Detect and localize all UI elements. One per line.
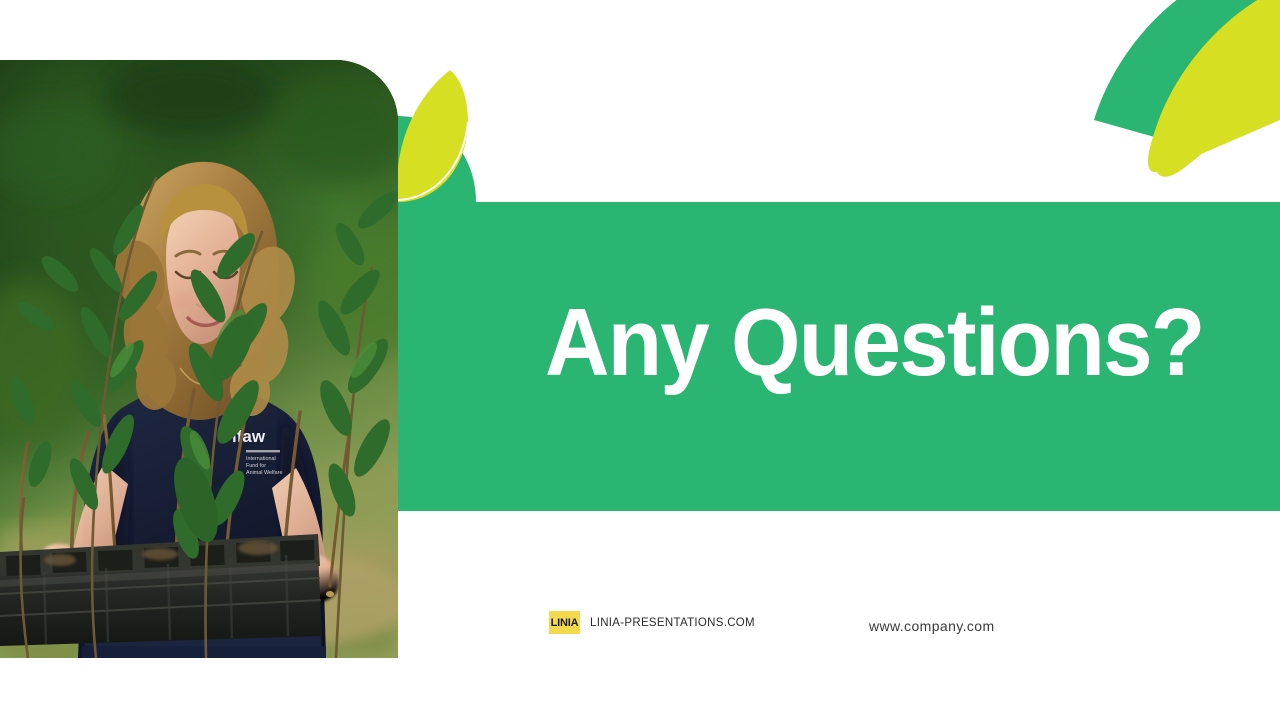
linia-logo-mark: LINIA bbox=[549, 611, 580, 634]
company-url-label[interactable]: www.company.com bbox=[869, 618, 995, 634]
svg-text:International: International bbox=[246, 456, 276, 462]
footer-brand[interactable]: LINIA LINIA-PRESENTATIONS.COM bbox=[549, 611, 755, 634]
decoration-top-right bbox=[1080, 0, 1280, 200]
decoration-band-left bbox=[398, 60, 518, 205]
linia-url-label[interactable]: LINIA-PRESENTATIONS.COM bbox=[590, 617, 755, 629]
hero-photo: ifaw International Fund for Animal Welfa… bbox=[0, 60, 398, 658]
page-title: Any Questions? bbox=[545, 291, 1140, 395]
svg-text:Animal Welfare: Animal Welfare bbox=[246, 470, 282, 476]
svg-text:Fund for: Fund for bbox=[246, 463, 266, 469]
slide-canvas: Any Questions? bbox=[0, 0, 1280, 720]
